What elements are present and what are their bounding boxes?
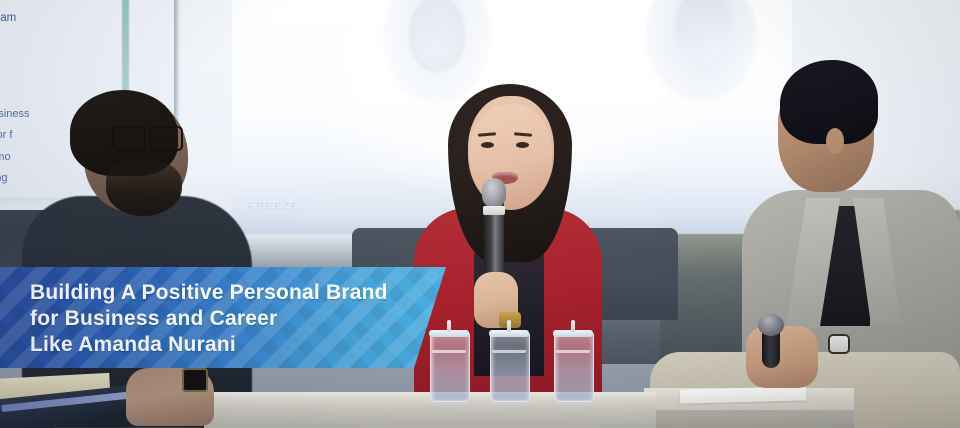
eyeglasses-icon: [112, 126, 188, 148]
event-photo-frame: FREEZE EMENT al Program ram Campus en in…: [0, 0, 960, 428]
poster-campus-line: Campus: [0, 51, 160, 68]
title-banner: Building A Positive Personal Brand for B…: [0, 267, 452, 368]
microphone-center-band: [483, 206, 505, 215]
water-glass-waterline: [492, 350, 526, 353]
table-center: [204, 398, 656, 428]
microphone-center-head: [482, 178, 506, 208]
person-right-wristwatch-icon: [828, 334, 850, 354]
banner-title-line-2: for Business and Career: [30, 306, 388, 332]
water-glass-knob: [447, 320, 451, 332]
water-glass-1: [430, 322, 468, 402]
poster-line-1: al Program: [0, 8, 160, 29]
banner-title-line-1: Building A Positive Personal Brand: [30, 280, 388, 306]
microphone-right-head: [758, 314, 784, 336]
person-left-wristwatch-icon: [182, 368, 208, 392]
water-glass-body: [490, 332, 530, 402]
person-left-beard: [106, 160, 182, 216]
water-glass-knob: [571, 320, 575, 332]
poster-line-2: ram: [0, 29, 160, 50]
person-right-ear: [826, 128, 844, 154]
person-right-hands: [746, 326, 818, 388]
water-glass-3: [554, 322, 592, 402]
water-glass-body: [554, 332, 594, 402]
person-center-eye-left: [481, 142, 494, 148]
water-glass-waterline: [556, 350, 590, 353]
poster-subhead-lines: al Program ram Campus: [0, 8, 160, 67]
banner-title-line-3: Like Amanda Nurani: [30, 332, 388, 358]
water-glass-knob: [507, 320, 511, 332]
poster-heading: EMENT: [0, 0, 72, 5]
water-glass-waterline: [432, 350, 466, 353]
projector-freeze-label: FREEZE: [248, 201, 300, 213]
banner-title-block: Building A Positive Personal Brand for B…: [30, 280, 388, 358]
person-center-eye-right: [516, 142, 529, 148]
water-glass-body: [430, 332, 470, 402]
water-glass-2: [490, 322, 528, 402]
